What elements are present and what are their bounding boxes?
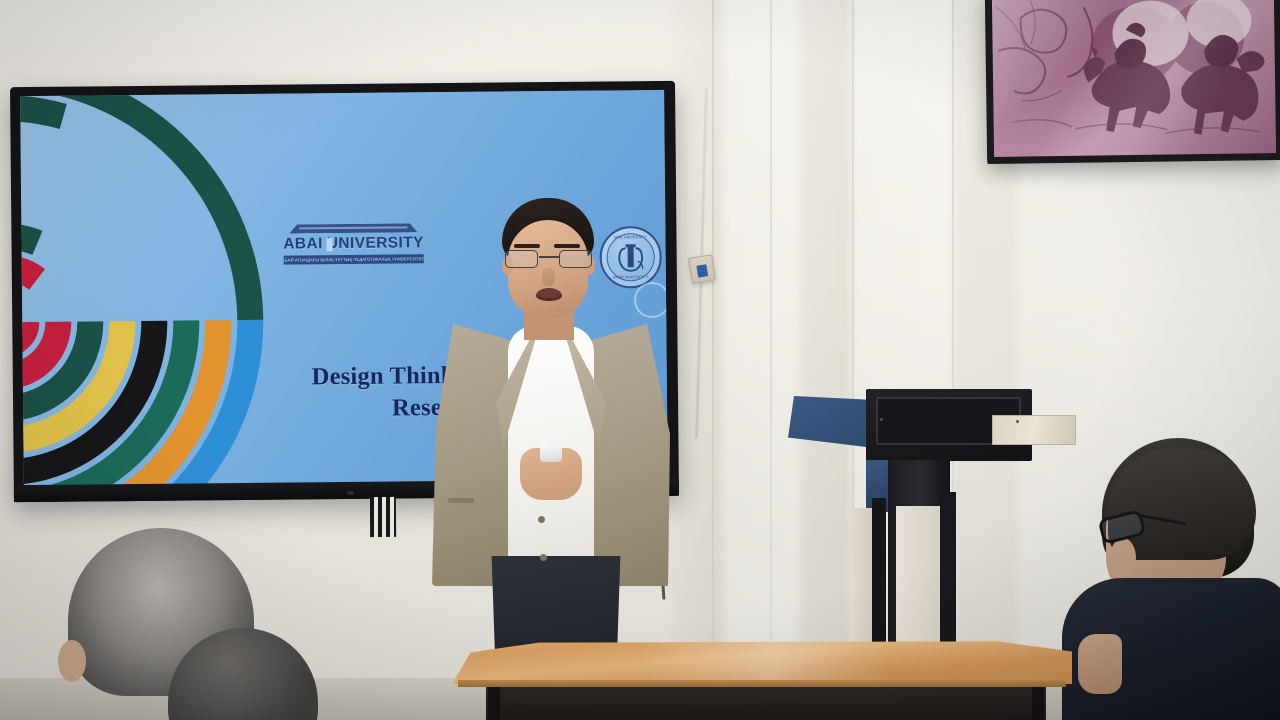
abai-university-logo: ABAI UNIVERSITY АБАЙ АТЫНДАҒЫ ҚАЗАҚ ҰЛТТ… <box>283 223 423 270</box>
abai-logo-subtitle: АБАЙ АТЫНДАҒЫ ҚАЗАҚ ҰЛТТЫҚ ПЕДАГОГИКАЛЫҚ… <box>284 254 424 264</box>
lecture-hall-scene: ABAI UNIVERSITY АБАЙ АТЫНДАҒЫ ҚАЗАҚ ҰЛТТ… <box>0 0 1280 720</box>
labyrinth-graphic <box>20 90 327 486</box>
audience-right-ear <box>1110 538 1136 578</box>
screw-icon <box>1016 420 1019 423</box>
painting-canvas <box>992 0 1276 157</box>
audience-left-ear <box>58 640 86 682</box>
abai-wordmark-abai: ABAI <box>283 235 323 253</box>
glasses-bridge <box>539 256 559 258</box>
speaker-mouth <box>536 288 562 301</box>
presentation-lectern <box>788 388 1033 676</box>
audience-member-right <box>1062 438 1280 720</box>
speaker-brow-left <box>514 244 540 248</box>
abai-wordmark: ABAI UNIVERSITY <box>283 232 423 255</box>
audience-right-hand <box>1078 634 1122 694</box>
table-leg <box>488 686 500 720</box>
speaker-nose <box>542 268 555 286</box>
jacket-button <box>538 516 545 523</box>
screw-icon <box>880 418 883 421</box>
eyeglasses-icon <box>505 250 593 268</box>
ir-sensor-icon <box>346 491 353 495</box>
tv-mount-bracket <box>370 497 396 537</box>
table-base <box>486 686 1046 720</box>
glasses-lens-right <box>559 250 592 268</box>
jacket-button <box>540 554 547 561</box>
speaker-brow-right <box>554 244 580 248</box>
table-edge <box>458 680 1066 687</box>
table-leg <box>1032 686 1044 720</box>
table-sheen <box>452 640 1072 684</box>
wooden-table <box>452 640 1072 720</box>
framed-painting <box>985 0 1280 164</box>
abai-wordmark-university: UNIVERSITY <box>327 234 424 253</box>
glasses-lens-left <box>505 250 538 268</box>
audience-member-left <box>50 528 290 720</box>
painting-glass-glare <box>992 0 1276 157</box>
lectern-plaque-frame <box>876 397 1021 445</box>
presentation-clicker[interactable] <box>540 444 562 462</box>
speaker-jacket-pocket <box>448 498 474 503</box>
